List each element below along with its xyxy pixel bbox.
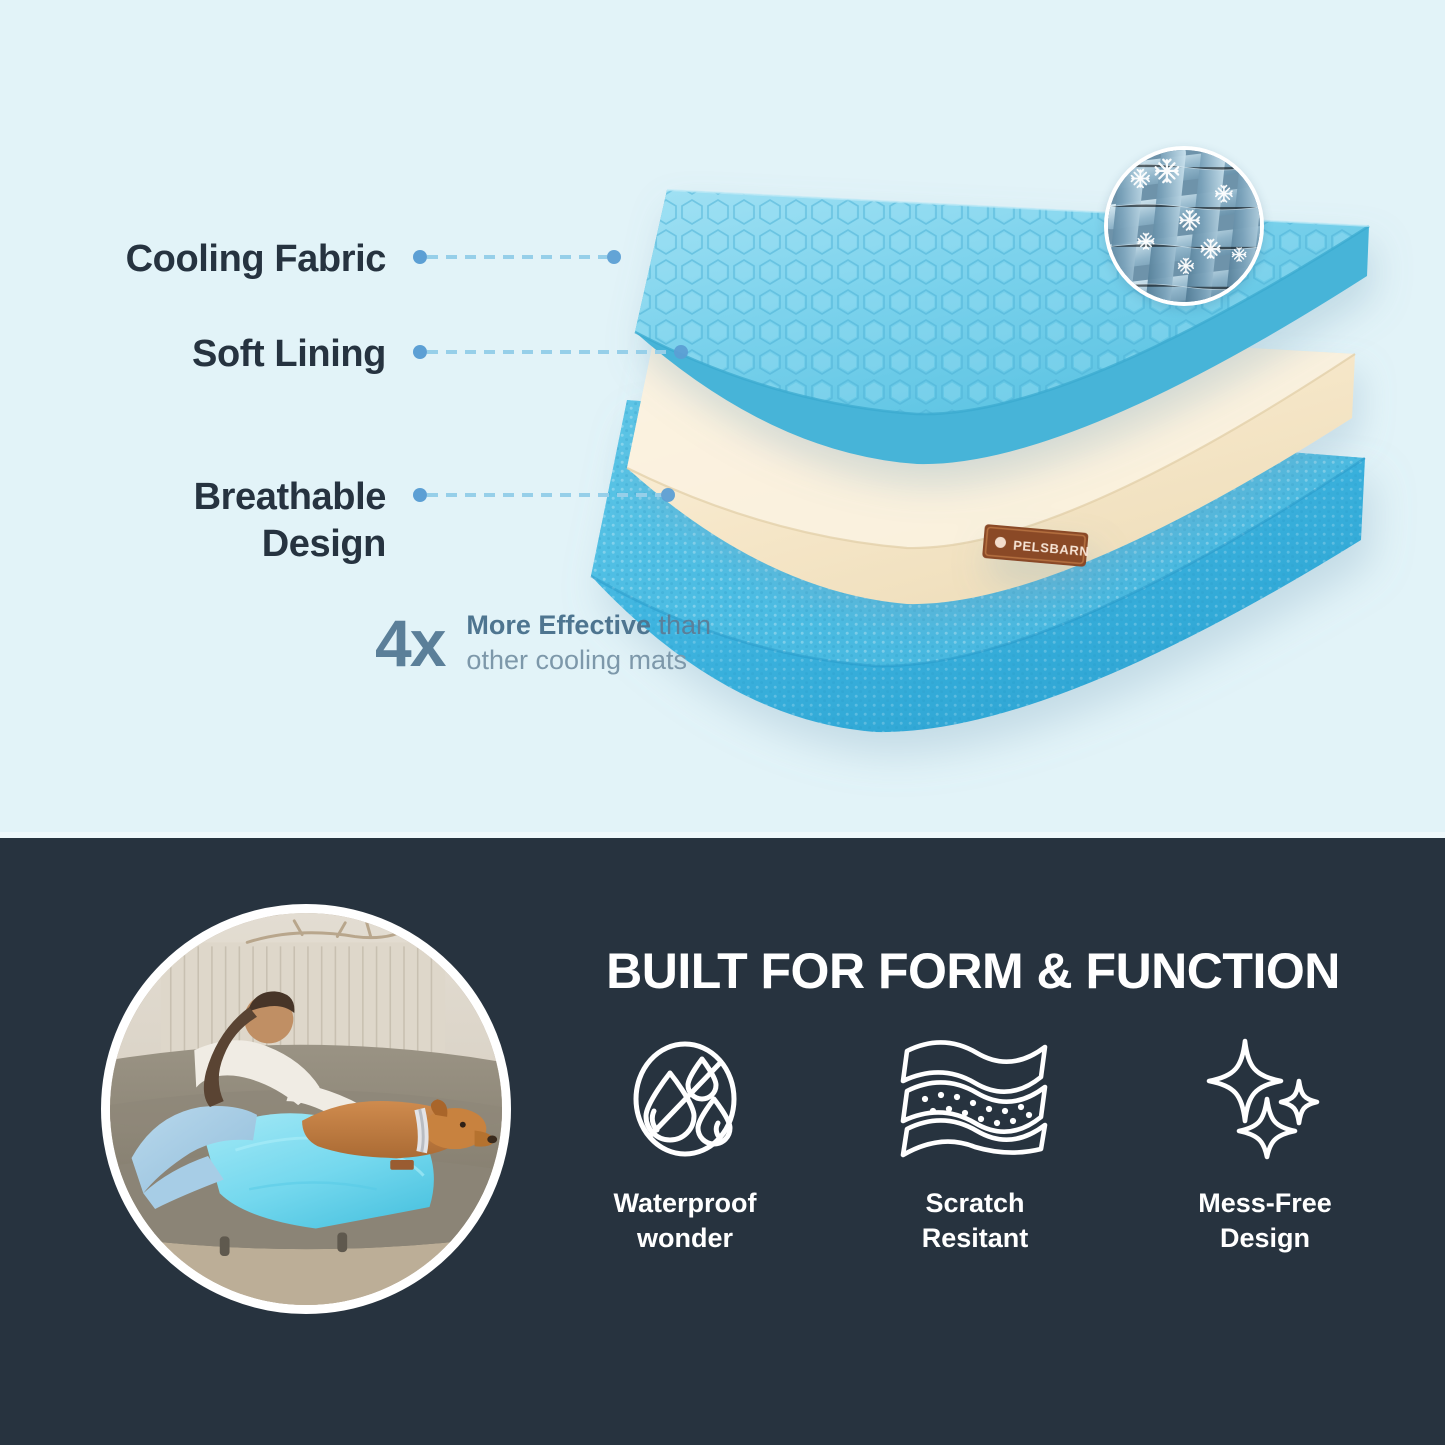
wavy-fabric-icon [895, 1034, 1055, 1164]
connector-dot-end [674, 345, 688, 359]
lifestyle-photo [101, 904, 511, 1314]
connector-dash [427, 350, 674, 354]
infographic-page: PELSBARN [0, 0, 1445, 1445]
layer-label-cooling-fabric: Cooling Fabric [126, 236, 386, 283]
cooling-fabric-layer: PELSBARN [627, 168, 1417, 518]
water-drop-slash-icon [626, 1034, 744, 1164]
feature-item-scratch-resistant: Scratch Resitant [850, 1034, 1100, 1256]
feature-caption: Scratch Resitant [922, 1186, 1029, 1256]
product-layers-section: PELSBARN [0, 0, 1445, 838]
feature-caption: Mess-Free Design [1198, 1186, 1332, 1256]
features-section: BUILT FOR FORM & FUNCTION Waterproo [0, 838, 1445, 1445]
sparkles-icon [1201, 1034, 1329, 1164]
connector-dot-end [661, 488, 675, 502]
effectiveness-stat: 4x More Effective than other cooling mat… [375, 608, 711, 677]
connector-line-cooling-fabric [413, 250, 621, 264]
connector-dot-start [413, 488, 427, 502]
stat-rest-text: than [651, 610, 711, 640]
stat-description: More Effective than other cooling mats [466, 608, 711, 677]
layer-label-breathable-design: Breathable Design [194, 474, 386, 567]
layer-label-soft-lining: Soft Lining [192, 331, 386, 378]
feature-item-mess-free: Mess-Free Design [1140, 1034, 1390, 1256]
connector-line-soft-lining [413, 345, 688, 359]
section-title: BUILT FOR FORM & FUNCTION [558, 942, 1388, 1000]
connector-dash [427, 493, 661, 497]
connector-dot-end [607, 250, 621, 264]
feature-item-waterproof: Waterproof wonder [560, 1034, 810, 1256]
feature-caption: Waterproof wonder [614, 1186, 757, 1256]
connector-dash [427, 255, 607, 259]
connector-line-breathable-design [413, 488, 675, 502]
stat-line-two: other cooling mats [466, 643, 711, 678]
fabric-weave-closeup [1104, 146, 1264, 306]
connector-dot-start [413, 345, 427, 359]
stat-bold-text: More Effective [466, 610, 651, 640]
connector-dot-start [413, 250, 427, 264]
stat-multiplier: 4x [375, 610, 444, 676]
feature-list: Waterproof wonder [560, 1034, 1390, 1256]
